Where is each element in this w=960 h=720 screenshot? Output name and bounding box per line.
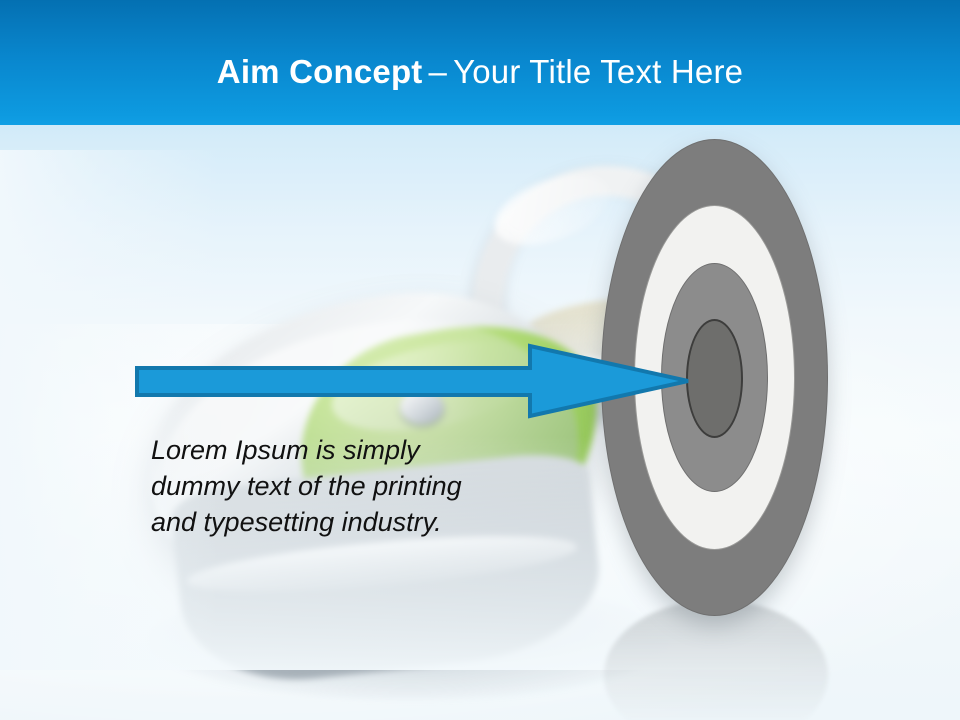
title-rest-part: Your Title Text Here — [453, 53, 743, 90]
slide-canvas: Aim Concept–Your Title Text Here Lorem I… — [0, 0, 960, 720]
title-strong-part: Aim Concept — [217, 53, 423, 90]
body-text-line: and typesetting industry. — [151, 504, 551, 540]
blue-arrow-shape — [137, 346, 688, 416]
blue-arrow-svg — [130, 334, 695, 430]
body-text-block: Lorem Ipsum is simply dummy text of the … — [151, 432, 551, 540]
blue-arrow — [130, 334, 695, 430]
title-dash: – — [423, 53, 454, 90]
page-title: Aim Concept–Your Title Text Here — [0, 52, 960, 92]
body-text-line: dummy text of the printing — [151, 468, 551, 504]
body-text-line: Lorem Ipsum is simply — [151, 432, 551, 468]
